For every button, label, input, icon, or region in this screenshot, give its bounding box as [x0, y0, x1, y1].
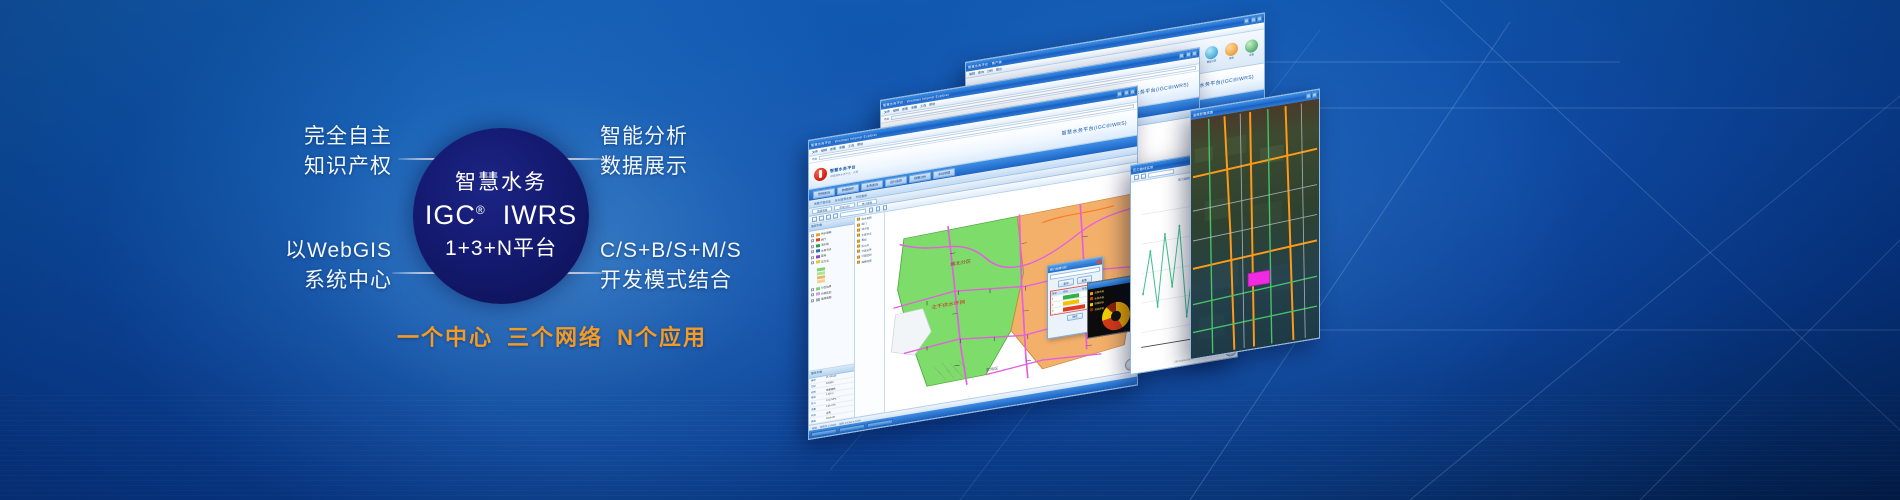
ribbon-btn-3[interactable]: 报表 [1225, 42, 1238, 61]
close-icon[interactable] [1097, 259, 1101, 264]
menu-mid-2[interactable]: 编辑 [893, 108, 899, 113]
layer-panel[interactable]: 图层列表 供水管网 阀门 消火栓 水表节点 泵站 压力点 [809, 217, 855, 425]
refresh-icon[interactable] [883, 205, 888, 210]
feature-label-bottom-left: 以WebGIS 系统中心 [182, 236, 392, 296]
menu-mid-4[interactable]: 收藏 [911, 105, 917, 110]
menu-item-back-2[interactable]: 查询 [978, 70, 984, 75]
zoom-out-icon[interactable] [826, 215, 831, 220]
taskbar-item[interactable] [839, 423, 865, 432]
measure-icon[interactable] [869, 207, 874, 212]
taskbar-item[interactable] [811, 428, 837, 437]
registered-mark-icon: ® [476, 203, 486, 217]
taskbar-item[interactable] [867, 418, 893, 427]
attribute-table[interactable]: 属性列表 编号PL-00128 口径DN300 材质球墨铸铁 埋深1.85 m … [809, 363, 854, 425]
menu-item-back-1[interactable]: 编辑 [969, 71, 975, 76]
tagline-part-3: N个应用 [617, 325, 707, 350]
feature-bottom-right-line2: 开发模式结合 [600, 266, 742, 296]
feature-bottom-right-line1: C/S+B/S+M/S [600, 236, 742, 266]
feature-bottom-left-line2: 系统中心 [182, 266, 392, 296]
menu-front-3[interactable]: 查看 [830, 146, 836, 151]
feature-label-top-left: 完全自主 知识产权 [192, 122, 392, 182]
chart-export-icon[interactable] [1141, 174, 1146, 179]
addr-label-front: 地址 [812, 156, 817, 161]
banner-tagline: 一个中心三个网络N个应用 [352, 320, 752, 352]
menu-mid-1[interactable]: 文件 [884, 109, 890, 114]
identify-icon[interactable] [833, 213, 838, 218]
menu-front-4[interactable]: 收藏 [839, 145, 845, 150]
banner-stage: 智慧水务 IGC® IWRS 1+3+N平台 完全自主 知识产权 以WebGIS… [0, 0, 1900, 500]
subnav-f2[interactable]: 压力监测点击 [835, 195, 852, 202]
menu-mid-6[interactable]: 帮助 [929, 102, 935, 107]
menu-front-2[interactable]: 编辑 [821, 148, 827, 153]
menu-front-5[interactable]: 工具 [848, 143, 854, 148]
hub-title-cn: 智慧水务 [455, 170, 547, 196]
feature-bottom-left-line1: 以WebGIS [182, 236, 392, 266]
hub-platform-line: 1+3+N平台 [445, 235, 557, 262]
feature-top-left-line2: 知识产权 [192, 152, 392, 182]
gis-map-canvas[interactable]: 城北分区 主干供水环网 城南分区 泵站区 阀门关阀分析 [885, 171, 1137, 413]
hub-product-code: IGC® IWRS [425, 198, 577, 233]
feature-label-top-right: 智能分析 数据展示 [600, 122, 688, 182]
feature-top-right-line1: 智能分析 [600, 122, 688, 152]
addr-label-mid: 地址 [884, 116, 889, 121]
tagline-part-2: 三个网络 [507, 325, 603, 350]
hub-iwrs: IWRS [503, 200, 578, 230]
window-front-gis[interactable]: 智慧水务平台 - Windows Internet Explorer 文件 编辑… [808, 85, 1138, 440]
feature-top-left-line1: 完全自主 [192, 122, 392, 152]
print-icon[interactable] [876, 206, 881, 211]
query-button[interactable]: 查询 [1058, 278, 1073, 288]
layer-tree[interactable]: 供水管网 阀门 消火栓 水表节点 泵站 压力点 分区边界 行 [809, 224, 854, 370]
water-quality-pie-dialog[interactable]: 浊度合格 余氯合格 铁锰超标 其他异常 [1087, 275, 1135, 339]
platform-title-front: 智慧水务平台(IGC®IWRS) [1062, 119, 1127, 137]
layer-legend-swatches [817, 262, 852, 283]
hub-igc: IGC [425, 200, 476, 230]
menu-front-1[interactable]: 文件 [812, 149, 818, 154]
window-satellite-map[interactable]: 遥感影像底图 [1190, 88, 1320, 360]
pie-dialog-body: 浊度合格 余氯合格 铁锰超标 其他异常 [1088, 282, 1134, 338]
ok-button[interactable]: 确定 [1067, 312, 1082, 321]
menu-item-back-4[interactable]: 输出 [996, 67, 1002, 72]
subnav-f3[interactable]: 分区查询 [856, 193, 867, 199]
ribbon-btn-4[interactable]: 设置 [1245, 38, 1258, 57]
menu-mid-3[interactable]: 查看 [902, 106, 908, 111]
chart-refresh-icon[interactable] [1134, 175, 1139, 180]
water-drop-logo-icon [814, 167, 827, 182]
menu-item-back-3[interactable]: 分析 [987, 68, 993, 73]
menu-front-6[interactable]: 帮助 [857, 142, 863, 147]
window-controls-sat[interactable] [1306, 92, 1318, 99]
feature-top-right-line2: 数据展示 [600, 152, 688, 182]
concept-diagram: 智慧水务 IGC® IWRS 1+3+N平台 完全自主 知识产权 以WebGIS… [0, 0, 800, 500]
gis-command-list[interactable]: 供水管网 阀门 消火栓 水表节点 泵站 压力点 分区边界 行政区划 遥感底图 [855, 212, 885, 417]
pan-tool-icon[interactable] [812, 217, 817, 222]
satellite-imagery [1191, 99, 1319, 359]
screenshot-stack: 智慧水务平台 - 客户端 编辑 查询 分析 输出 ◧ 图层 ◨ 样式 ◩ 标注 … [790, 40, 1490, 460]
feature-label-bottom-right: C/S+B/S+M/S 开发模式结合 [600, 236, 742, 296]
zoom-in-icon[interactable] [819, 216, 824, 221]
tagline-part-1: 一个中心 [397, 325, 493, 350]
satellite-canvas[interactable] [1191, 99, 1319, 359]
menu-mid-5[interactable]: 工具 [920, 103, 926, 108]
ribbon-btn-2[interactable]: 模型计算 [1205, 45, 1218, 64]
central-hub-circle: 智慧水务 IGC® IWRS 1+3+N平台 [413, 128, 589, 304]
